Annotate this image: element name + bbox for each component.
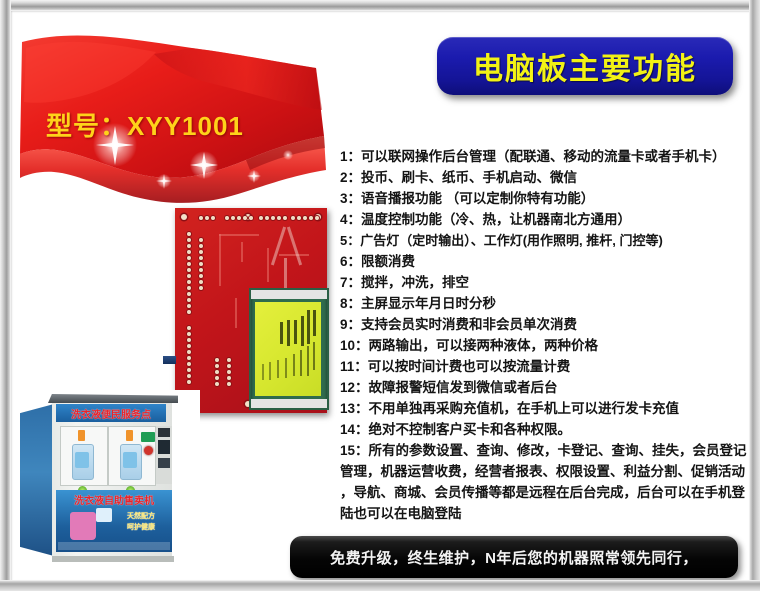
exit-sign xyxy=(141,432,155,442)
feature-item: 15：所有的参数设置、查询、修改，卡登记、查询、挂失，会员登记 xyxy=(340,440,750,461)
page-title: 电脑板主要功能 xyxy=(473,44,697,88)
machine-side-panel xyxy=(20,404,54,556)
ad-wave-graphic xyxy=(58,542,170,550)
pcb-trace xyxy=(279,254,309,256)
nozzle-left xyxy=(78,430,85,441)
edge-connector xyxy=(163,356,176,364)
feature-item: 4：温度控制功能（冷、热，让机器南北方通用） xyxy=(340,209,750,230)
machine-top-sign: 洗衣液便民服务点 xyxy=(56,404,166,422)
pcb-trace xyxy=(241,242,243,262)
feature-item-wrap: 陆也可以在电脑登陆 xyxy=(340,503,750,524)
lcd-module xyxy=(249,288,329,410)
feature-item: 7：搅拌，冲洗，排空 xyxy=(340,272,750,293)
machine-base xyxy=(52,556,174,562)
bill-acceptor xyxy=(158,458,170,468)
frame-border-top xyxy=(0,0,760,11)
pin-header-pads xyxy=(259,216,287,220)
coin-slot xyxy=(158,428,170,437)
ad-cup-graphic xyxy=(96,508,112,522)
frame-border-bottom xyxy=(0,580,760,591)
machine-sub-sign-b: 呵护健康 xyxy=(114,521,168,532)
feature-item-wrap: 管理，机器运营收费，经营者报表、权限设置、利益分割、促销活动 xyxy=(340,461,750,482)
feature-item-wrap: ，导航、商城、会员传播等都是远程在后台完成，后台可以在手机登 xyxy=(340,482,750,503)
frame-border-left xyxy=(0,0,11,591)
vending-machine-photo: 洗衣液便民服务点 洗衣液自助售卖机 天然配方 呵护健康 xyxy=(12,390,200,579)
feature-item: 6：限额消费 xyxy=(340,251,750,272)
pcb-control-board xyxy=(175,208,327,413)
feature-item: 9：支持会员实时消费和非会员单次消费 xyxy=(340,314,750,335)
pin-header-pads xyxy=(291,216,319,220)
feature-item: 3：语音播报功能 （可以定制你特有功能） xyxy=(340,188,750,209)
pin-header-pads xyxy=(187,232,191,314)
pin-header-pads xyxy=(199,238,203,290)
pin-header-pads xyxy=(199,216,215,220)
card-reader xyxy=(158,440,170,454)
feature-item: 12：故障报警短信发到微信或者后台 xyxy=(340,377,750,398)
machine-roof xyxy=(48,394,178,403)
bottle-label-right xyxy=(123,452,137,468)
feature-list: 1：可以联网操作后台管理（配联通、移动的流量卡或者手机卡） 2：投币、刷卡、纸币… xyxy=(340,146,750,524)
feature-item: 11：可以按时间计费也可以按流量计费 xyxy=(340,356,750,377)
lcd-bezel-top xyxy=(251,290,327,299)
bottom-slogan-banner: 免费升级，终生维护，N年后您的机器照常领先同行， xyxy=(290,536,738,578)
emergency-button[interactable] xyxy=(144,446,153,455)
title-banner: 电脑板主要功能 xyxy=(437,37,733,95)
bottle-label-left xyxy=(75,452,89,468)
feature-item: 13：不用单独再采购充值机，在手机上可以进行发卡充值 xyxy=(340,398,750,419)
ad-bucket-graphic xyxy=(70,512,96,540)
pin-header-pads xyxy=(187,326,191,384)
pin-header-pads xyxy=(227,358,231,386)
feature-item: 5：广告灯（定时输出）、工作灯(用作照明, 推杆, 门控等) xyxy=(340,230,750,251)
frame-border-right xyxy=(749,0,760,591)
lcd-screen xyxy=(255,302,321,396)
pcb-silk xyxy=(287,227,302,266)
nozzle-right xyxy=(126,430,133,441)
pcb-trace xyxy=(219,234,259,236)
pcb-trace xyxy=(219,234,221,286)
mount-hole xyxy=(181,214,187,220)
pin-header-pads xyxy=(215,358,219,386)
feature-item: 2：投币、刷卡、纸币、手机启动、微信 xyxy=(340,167,750,188)
red-flag-graphic: 型号：XYY1001 xyxy=(16,24,334,204)
machine-sub-sign-a: 天然配方 xyxy=(114,510,168,521)
pin-header-pads xyxy=(225,216,253,220)
machine-mid-sign: 洗衣液自助售卖机 xyxy=(56,491,172,507)
pcb-trace xyxy=(235,298,237,328)
model-label: 型号：XYY1001 xyxy=(46,106,244,143)
feature-item: 1：可以联网操作后台管理（配联通、移动的流量卡或者手机卡） xyxy=(340,146,750,167)
feature-item: 8：主屏显示年月日时分秒 xyxy=(340,293,750,314)
feature-item: 10：两路输出，可以接两种液体，两种价格 xyxy=(340,335,750,356)
pcb-trace xyxy=(267,248,269,282)
poster-canvas: 型号：XYY1001 电脑板主要功能 1：可以联网操作后台管理（配联通、移动的流… xyxy=(0,0,760,591)
bottom-slogan-text: 免费升级，终生维护，N年后您的机器照常领先同行， xyxy=(330,547,698,568)
feature-item: 14：绝对不控制客户买卡和各种权限。 xyxy=(340,419,750,440)
lcd-bezel-bottom xyxy=(251,399,327,408)
